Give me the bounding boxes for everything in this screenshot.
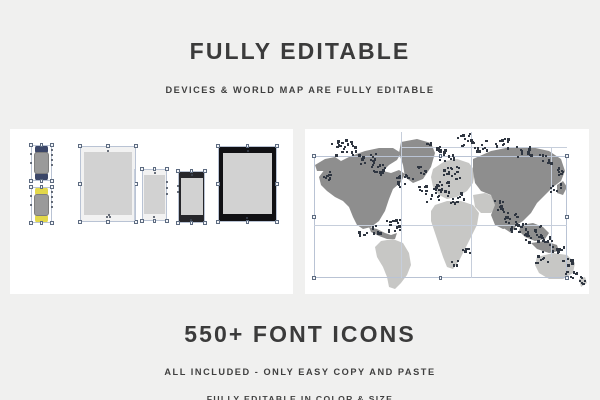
anchor-point[interactable]	[451, 261, 453, 263]
anchor-point[interactable]	[341, 151, 343, 153]
anchor-point[interactable]	[429, 144, 432, 147]
anchor-point[interactable]	[364, 162, 366, 164]
anchor-point[interactable]	[456, 264, 459, 267]
anchor-point[interactable]	[444, 190, 447, 193]
anchor-point[interactable]	[441, 184, 444, 187]
anchor-point[interactable]	[362, 156, 365, 159]
anchor-point[interactable]	[581, 277, 583, 279]
anchor-point[interactable]	[556, 190, 558, 192]
anchor-point[interactable]	[516, 216, 519, 219]
anchor-point[interactable]	[479, 150, 482, 153]
anchor-point[interactable]	[509, 218, 511, 220]
anchor-point[interactable]	[426, 143, 429, 146]
anchor-point[interactable]	[462, 249, 464, 251]
handle[interactable]	[165, 167, 168, 170]
handle[interactable]	[50, 143, 53, 146]
handle[interactable]	[78, 220, 81, 223]
handle[interactable]	[50, 221, 53, 224]
anchor-point[interactable]	[576, 272, 578, 274]
anchor-point[interactable]	[329, 171, 331, 173]
anchor-point[interactable]	[448, 185, 450, 187]
handle[interactable]	[134, 144, 137, 147]
anchor-point[interactable]	[550, 162, 553, 165]
anchor-point[interactable]	[518, 231, 521, 234]
handle[interactable]	[439, 154, 442, 157]
anchor-point[interactable]	[417, 166, 419, 168]
world-map-panel	[305, 129, 589, 294]
anchor-point[interactable]	[430, 142, 432, 144]
anchor-point[interactable]	[360, 163, 362, 165]
anchor-point[interactable]	[550, 191, 552, 193]
anchor-point[interactable]	[453, 264, 455, 266]
anchor-point[interactable]	[443, 174, 446, 177]
anchor-point[interactable]	[354, 146, 356, 148]
handle[interactable]	[29, 185, 32, 188]
anchor-point[interactable]	[526, 234, 529, 237]
anchor-point[interactable]	[546, 241, 548, 243]
anchor-point[interactable]	[379, 171, 382, 174]
anchor-point[interactable]	[388, 229, 391, 232]
anchor-point[interactable]	[448, 191, 451, 194]
anchor-point[interactable]	[525, 239, 527, 241]
handle[interactable]	[275, 182, 278, 185]
anchor-point[interactable]	[467, 140, 469, 142]
anchor-point[interactable]	[51, 164, 53, 166]
anchor-point[interactable]	[398, 176, 401, 179]
bottom-title: 550+ FONT ICONS	[0, 323, 600, 346]
anchor-point[interactable]	[426, 201, 428, 203]
anchor-point[interactable]	[451, 168, 453, 170]
anchor-point[interactable]	[561, 249, 563, 251]
handle[interactable]	[134, 220, 137, 223]
anchor-point[interactable]	[539, 226, 541, 228]
anchor-point[interactable]	[423, 173, 425, 175]
anchor-point[interactable]	[375, 225, 377, 227]
handle[interactable]	[565, 215, 568, 218]
handle[interactable]	[246, 220, 249, 223]
anchor-point[interactable]	[51, 191, 53, 193]
anchor-point[interactable]	[351, 143, 353, 145]
handle[interactable]	[78, 144, 81, 147]
anchor-point[interactable]	[372, 156, 374, 158]
anchor-point[interactable]	[557, 251, 560, 254]
anchor-point[interactable]	[552, 246, 554, 248]
selection-box-smartwatch-navy[interactable]	[31, 145, 52, 181]
anchor-point[interactable]	[425, 193, 427, 195]
anchor-point[interactable]	[398, 225, 401, 228]
anchor-point[interactable]	[464, 138, 466, 140]
handle[interactable]	[50, 179, 53, 182]
anchor-point[interactable]	[379, 164, 382, 167]
handle[interactable]	[50, 185, 53, 188]
anchor-point[interactable]	[503, 211, 505, 213]
anchor-point[interactable]	[351, 151, 353, 153]
anchor-point[interactable]	[459, 177, 461, 179]
anchor-point[interactable]	[469, 252, 471, 254]
anchor-point[interactable]	[389, 224, 392, 227]
anchor-point[interactable]	[384, 167, 386, 169]
anchor-point[interactable]	[507, 140, 510, 143]
anchor-point[interactable]	[373, 232, 376, 235]
anchor-point[interactable]	[438, 195, 440, 197]
anchor-point[interactable]	[341, 142, 344, 145]
anchor-point[interactable]	[501, 139, 504, 142]
anchor-point[interactable]	[571, 262, 574, 265]
anchor-point[interactable]	[456, 178, 458, 180]
anchor-point[interactable]	[460, 192, 462, 194]
anchor-point[interactable]	[452, 198, 454, 200]
handle[interactable]	[134, 182, 137, 185]
anchor-point[interactable]	[502, 201, 504, 203]
anchor-point[interactable]	[461, 145, 464, 148]
anchor-point[interactable]	[108, 214, 110, 216]
handle[interactable]	[216, 182, 219, 185]
anchor-point[interactable]	[454, 202, 457, 205]
handle[interactable]	[140, 167, 143, 170]
anchor-point[interactable]	[439, 181, 441, 183]
handle[interactable]	[439, 276, 442, 279]
anchor-point[interactable]	[382, 169, 385, 172]
anchor-point[interactable]	[447, 181, 450, 184]
anchor-point[interactable]	[421, 190, 423, 192]
anchor-point[interactable]	[537, 256, 540, 259]
anchor-point[interactable]	[520, 226, 523, 229]
anchor-point[interactable]	[536, 234, 538, 236]
anchor-point[interactable]	[481, 144, 483, 146]
anchor-point[interactable]	[514, 228, 516, 230]
handle[interactable]	[176, 221, 179, 224]
anchor-point[interactable]	[542, 258, 544, 260]
anchor-point[interactable]	[51, 196, 53, 198]
handle[interactable]	[216, 220, 219, 223]
anchor-point[interactable]	[443, 154, 445, 156]
anchor-point[interactable]	[370, 159, 372, 161]
handle[interactable]	[29, 179, 32, 182]
anchor-point[interactable]	[399, 219, 401, 221]
handle[interactable]	[29, 221, 32, 224]
handle[interactable]	[40, 179, 43, 182]
handle[interactable]	[106, 144, 109, 147]
anchor-point[interactable]	[51, 149, 53, 151]
anchor-point[interactable]	[373, 161, 376, 164]
anchor-point[interactable]	[375, 153, 377, 155]
anchor-point[interactable]	[584, 280, 586, 282]
anchor-point[interactable]	[355, 150, 358, 153]
anchor-point[interactable]	[399, 186, 401, 188]
anchor-point[interactable]	[447, 167, 449, 169]
anchor-point[interactable]	[407, 177, 410, 180]
anchor-point[interactable]	[51, 201, 53, 203]
anchor-point[interactable]	[51, 159, 53, 161]
handle[interactable]	[312, 215, 315, 218]
anchor-point[interactable]	[468, 135, 470, 137]
anchor-point[interactable]	[525, 223, 527, 225]
anchor-point[interactable]	[342, 151, 344, 153]
selection-box-phone-white[interactable]	[142, 169, 167, 221]
anchor-point[interactable]	[425, 171, 427, 173]
anchor-point[interactable]	[431, 195, 433, 197]
anchor-point[interactable]	[450, 202, 452, 204]
anchor-point[interactable]	[557, 169, 559, 171]
anchor-point[interactable]	[485, 140, 488, 143]
selection-box-phone-black[interactable]	[178, 171, 205, 223]
anchor-point[interactable]	[335, 154, 338, 157]
anchor-point[interactable]	[545, 155, 547, 157]
anchor-point[interactable]	[468, 248, 470, 250]
anchor-point[interactable]	[459, 196, 461, 198]
anchor-point[interactable]	[537, 262, 539, 264]
anchor-point[interactable]	[336, 146, 339, 149]
anchor-point[interactable]	[539, 154, 541, 156]
anchor-point[interactable]	[542, 154, 545, 157]
anchor-point[interactable]	[405, 174, 407, 176]
anchor-point[interactable]	[507, 147, 510, 150]
anchor-point[interactable]	[528, 148, 531, 151]
anchor-point[interactable]	[166, 193, 168, 195]
handle[interactable]	[140, 219, 143, 222]
anchor-point[interactable]	[463, 198, 466, 201]
anchor-point[interactable]	[496, 145, 499, 148]
anchor-point[interactable]	[448, 155, 451, 158]
anchor-point[interactable]	[553, 189, 555, 191]
anchor-point[interactable]	[379, 232, 382, 235]
anchor-point[interactable]	[443, 169, 446, 172]
anchor-point[interactable]	[482, 148, 484, 150]
anchor-point[interactable]	[443, 151, 446, 154]
anchor-point[interactable]	[549, 236, 552, 239]
anchor-point[interactable]	[563, 246, 566, 249]
handle[interactable]	[40, 185, 43, 188]
anchor-point[interactable]	[572, 277, 574, 279]
handle[interactable]	[190, 169, 193, 172]
handle[interactable]	[246, 144, 249, 147]
anchor-point[interactable]	[507, 212, 509, 214]
handle[interactable]	[203, 169, 206, 172]
anchor-point[interactable]	[447, 195, 449, 197]
anchor-point[interactable]	[404, 183, 406, 185]
anchor-point[interactable]	[473, 142, 475, 144]
anchor-point[interactable]	[412, 178, 414, 180]
anchor-point[interactable]	[373, 170, 376, 173]
world-map-stage[interactable]	[305, 129, 589, 294]
anchor-point[interactable]	[515, 213, 517, 215]
anchor-point[interactable]	[527, 152, 530, 155]
anchor-point[interactable]	[346, 151, 348, 153]
selection-box-smartwatch-yellow[interactable]	[31, 187, 52, 223]
anchor-point[interactable]	[352, 154, 354, 156]
anchor-point[interactable]	[537, 240, 540, 243]
anchor-point[interactable]	[166, 181, 168, 183]
anchor-point[interactable]	[552, 185, 554, 187]
anchor-point[interactable]	[430, 198, 432, 200]
anchor-point[interactable]	[454, 173, 456, 175]
anchor-point[interactable]	[529, 154, 531, 156]
anchor-point[interactable]	[470, 139, 473, 142]
anchor-point[interactable]	[560, 187, 562, 189]
anchor-point[interactable]	[457, 197, 459, 199]
anchor-point[interactable]	[495, 143, 497, 145]
anchor-point[interactable]	[399, 229, 401, 231]
anchor-point[interactable]	[436, 184, 439, 187]
anchor-point[interactable]	[543, 239, 545, 241]
anchor-point[interactable]	[551, 240, 553, 242]
anchor-point[interactable]	[502, 144, 504, 146]
anchor-point[interactable]	[552, 250, 555, 253]
handle[interactable]	[153, 219, 156, 222]
anchor-point[interactable]	[570, 276, 572, 278]
anchor-point[interactable]	[358, 154, 361, 157]
anchor-point[interactable]	[573, 271, 575, 273]
anchor-point[interactable]	[347, 143, 350, 146]
anchor-point[interactable]	[517, 156, 519, 158]
anchor-point[interactable]	[331, 143, 333, 145]
anchor-point[interactable]	[530, 237, 532, 239]
guide-line	[134, 169, 135, 221]
anchor-point[interactable]	[511, 231, 513, 233]
anchor-point[interactable]	[359, 235, 361, 237]
anchor-point[interactable]	[166, 187, 168, 189]
anchor-point[interactable]	[476, 150, 479, 153]
handle[interactable]	[106, 220, 109, 223]
anchor-point[interactable]	[562, 171, 564, 173]
anchor-point[interactable]	[508, 222, 510, 224]
anchor-point[interactable]	[542, 251, 544, 253]
anchor-point[interactable]	[516, 146, 518, 148]
anchor-point[interactable]	[376, 171, 378, 173]
handle[interactable]	[176, 169, 179, 172]
handle[interactable]	[165, 219, 168, 222]
anchor-point[interactable]	[345, 139, 348, 142]
page-subtitle: DEVICES & WORLD MAP ARE FULLY EDITABLE	[0, 85, 600, 95]
anchor-point[interactable]	[561, 173, 563, 175]
anchor-point[interactable]	[444, 160, 447, 163]
anchor-point[interactable]	[377, 233, 379, 235]
handle[interactable]	[40, 221, 43, 224]
handle[interactable]	[190, 221, 193, 224]
anchor-point[interactable]	[542, 160, 544, 162]
anchor-point[interactable]	[540, 234, 542, 236]
anchor-point[interactable]	[567, 264, 570, 267]
anchor-point[interactable]	[438, 149, 441, 152]
anchor-point[interactable]	[51, 154, 53, 156]
anchor-point[interactable]	[328, 179, 330, 181]
anchor-point[interactable]	[507, 138, 510, 141]
anchor-point[interactable]	[394, 230, 396, 232]
anchor-point[interactable]	[323, 176, 325, 178]
handle[interactable]	[203, 221, 206, 224]
anchor-point[interactable]	[534, 229, 537, 232]
handle[interactable]	[275, 144, 278, 147]
anchor-point[interactable]	[374, 158, 377, 161]
handle[interactable]	[312, 154, 315, 157]
anchor-point[interactable]	[457, 201, 459, 203]
handle[interactable]	[312, 276, 315, 279]
anchor-point[interactable]	[424, 186, 426, 188]
anchor-point[interactable]	[515, 224, 517, 226]
page-title: FULLY EDITABLE	[0, 40, 600, 63]
selection-box-tablet-black[interactable]	[218, 146, 277, 222]
handle[interactable]	[40, 143, 43, 146]
handle[interactable]	[565, 154, 568, 157]
anchor-point[interactable]	[462, 134, 465, 137]
handle[interactable]	[29, 143, 32, 146]
handle[interactable]	[275, 220, 278, 223]
anchor-point[interactable]	[457, 260, 459, 262]
handle[interactable]	[153, 167, 156, 170]
anchor-point[interactable]	[372, 228, 374, 230]
anchor-point[interactable]	[528, 235, 530, 237]
anchor-point[interactable]	[366, 232, 368, 234]
anchor-point[interactable]	[456, 171, 459, 174]
anchor-point[interactable]	[51, 206, 53, 208]
anchor-point[interactable]	[438, 189, 440, 191]
anchor-point[interactable]	[448, 173, 451, 176]
anchor-point[interactable]	[484, 147, 486, 149]
anchor-point[interactable]	[435, 189, 437, 191]
anchor-point[interactable]	[395, 219, 398, 222]
anchor-point[interactable]	[547, 162, 550, 165]
anchor-point[interactable]	[398, 184, 400, 186]
anchor-point[interactable]	[453, 159, 456, 162]
anchor-point[interactable]	[525, 229, 527, 231]
selection-box-tablet-white[interactable]	[80, 146, 136, 222]
anchor-point[interactable]	[499, 140, 501, 142]
anchor-point[interactable]	[440, 191, 442, 193]
anchor-point[interactable]	[572, 260, 574, 262]
anchor-point[interactable]	[451, 175, 453, 177]
anchor-point[interactable]	[494, 200, 496, 202]
anchor-point[interactable]	[558, 171, 560, 173]
anchor-point[interactable]	[477, 147, 480, 150]
anchor-point[interactable]	[435, 192, 437, 194]
anchor-point[interactable]	[330, 174, 332, 176]
handle[interactable]	[216, 144, 219, 147]
anchor-point[interactable]	[425, 190, 427, 192]
anchor-point[interactable]	[397, 222, 399, 224]
anchor-point[interactable]	[528, 241, 531, 244]
anchor-point[interactable]	[386, 220, 388, 222]
anchor-point[interactable]	[344, 146, 346, 148]
anchor-point[interactable]	[521, 153, 523, 155]
anchor-point[interactable]	[458, 167, 460, 169]
anchor-point[interactable]	[565, 273, 567, 275]
handle[interactable]	[78, 182, 81, 185]
anchor-point[interactable]	[420, 166, 422, 168]
bottom-subtitle-secondary: FULLY EDITABLE IN COLOR & SIZE	[0, 394, 600, 400]
anchor-point[interactable]	[438, 199, 440, 201]
anchor-point[interactable]	[562, 260, 565, 263]
anchor-point[interactable]	[499, 202, 502, 205]
anchor-point[interactable]	[486, 149, 489, 152]
anchor-point[interactable]	[497, 209, 499, 211]
selection-box-world-map[interactable]	[314, 156, 567, 278]
anchor-point[interactable]	[457, 137, 459, 139]
anchor-point[interactable]	[567, 258, 569, 260]
anchor-point[interactable]	[371, 166, 373, 168]
anchor-point[interactable]	[547, 261, 549, 263]
guide-line-horizontal	[314, 225, 567, 226]
anchor-point[interactable]	[560, 183, 562, 185]
anchor-point[interactable]	[359, 234, 361, 236]
handle[interactable]	[565, 276, 568, 279]
anchor-point[interactable]	[337, 140, 340, 143]
anchor-point[interactable]	[343, 148, 346, 151]
anchor-point[interactable]	[326, 175, 329, 178]
anchor-point[interactable]	[505, 216, 507, 218]
anchor-point[interactable]	[452, 154, 455, 157]
anchor-point[interactable]	[433, 188, 435, 190]
anchor-point[interactable]	[439, 159, 441, 161]
